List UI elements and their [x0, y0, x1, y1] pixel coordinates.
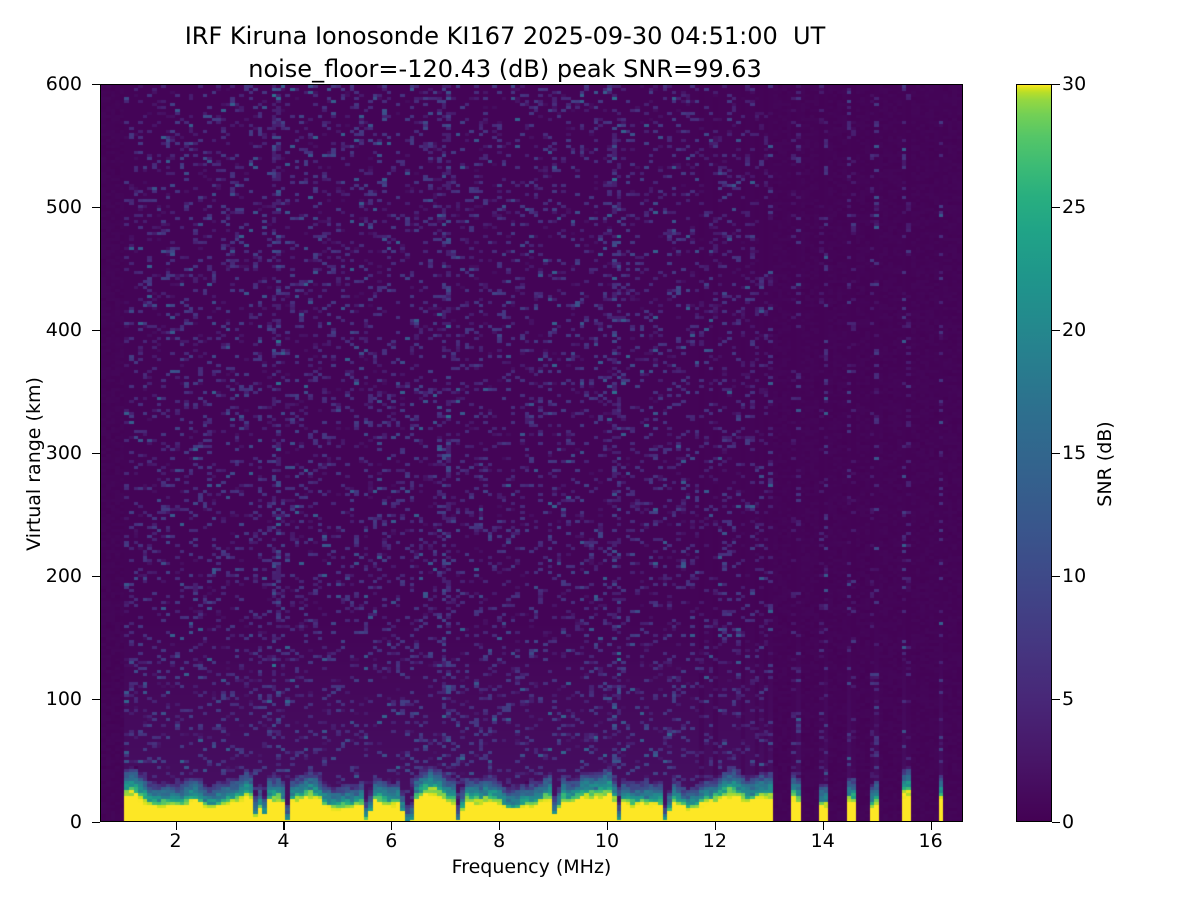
- x-tick-label: 14: [788, 830, 858, 852]
- y-tick-label: 500: [0, 196, 82, 218]
- y-tick-mark: [92, 453, 100, 454]
- x-tick-mark: [931, 822, 932, 830]
- x-tick-label: 2: [141, 830, 211, 852]
- colorbar-tick-mark: [1052, 822, 1060, 823]
- x-tick-label: 4: [248, 830, 318, 852]
- figure-title: IRF Kiruna Ionosonde KI167 2025-09-30 04…: [0, 20, 1010, 86]
- x-tick-label: 12: [680, 830, 750, 852]
- x-tick-label: 16: [896, 830, 966, 852]
- colorbar-tick-mark: [1052, 84, 1060, 85]
- y-tick-mark: [92, 822, 100, 823]
- y-tick-mark: [92, 330, 100, 331]
- x-tick-mark: [176, 822, 177, 830]
- y-tick-mark: [92, 84, 100, 85]
- colorbar-tick-label: 20: [1062, 319, 1086, 341]
- colorbar-tick-mark: [1052, 699, 1060, 700]
- y-axis-label: Virtual range (km): [23, 334, 45, 594]
- x-axis-label: Frequency (MHz): [100, 856, 963, 878]
- ionogram-axes: [100, 84, 963, 822]
- colorbar-tick-mark: [1052, 207, 1060, 208]
- x-tick-mark: [391, 822, 392, 830]
- x-tick-label: 6: [356, 830, 426, 852]
- colorbar-tick-label: 10: [1062, 565, 1086, 587]
- colorbar: [1016, 84, 1052, 822]
- x-tick-mark: [283, 822, 284, 830]
- x-tick-mark: [607, 822, 608, 830]
- colorbar-tick-mark: [1052, 453, 1060, 454]
- colorbar-label: SNR (dB): [1094, 334, 1116, 594]
- y-tick-mark: [92, 207, 100, 208]
- x-tick-mark: [715, 822, 716, 830]
- colorbar-tick-label: 5: [1062, 688, 1074, 710]
- y-tick-label: 600: [0, 73, 82, 95]
- y-tick-mark: [92, 576, 100, 577]
- ionogram-figure: IRF Kiruna Ionosonde KI167 2025-09-30 04…: [0, 0, 1200, 900]
- colorbar-tick-label: 0: [1062, 811, 1074, 833]
- ionogram-heatmap: [101, 85, 962, 821]
- y-tick-label: 100: [0, 688, 82, 710]
- y-tick-mark: [92, 699, 100, 700]
- y-tick-label: 0: [0, 811, 82, 833]
- colorbar-tick-label: 25: [1062, 196, 1086, 218]
- colorbar-tick-label: 15: [1062, 442, 1086, 464]
- x-tick-mark: [499, 822, 500, 830]
- x-tick-label: 8: [464, 830, 534, 852]
- x-tick-mark: [823, 822, 824, 830]
- colorbar-tick-label: 30: [1062, 73, 1086, 95]
- colorbar-tick-mark: [1052, 576, 1060, 577]
- x-tick-label: 10: [572, 830, 642, 852]
- colorbar-tick-mark: [1052, 330, 1060, 331]
